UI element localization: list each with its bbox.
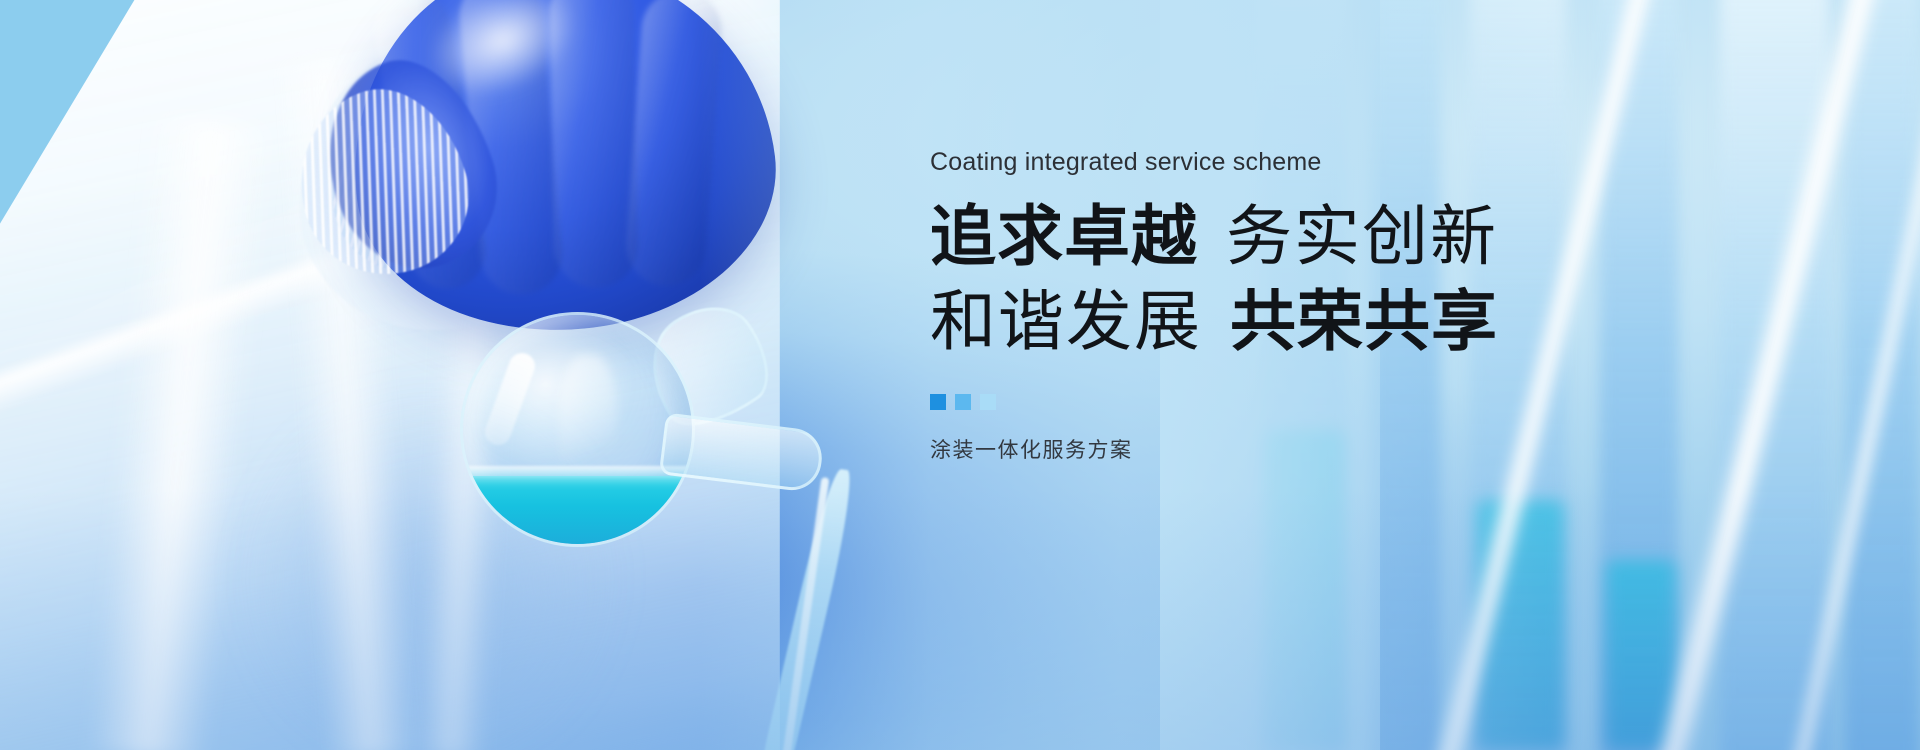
background-vignette bbox=[0, 490, 1920, 750]
flask-highlight bbox=[481, 349, 538, 448]
headline-segment-4: 共荣共享 bbox=[1230, 284, 1498, 358]
headline-line-1: 追求卓越务实创新 bbox=[930, 201, 1670, 272]
decorative-squares bbox=[930, 394, 1670, 410]
hero-banner: Coating integrated service scheme 追求卓越务实… bbox=[0, 0, 1920, 750]
decorative-square-1 bbox=[930, 394, 946, 410]
banner-headline: 追求卓越务实创新 和谐发展共荣共享 bbox=[930, 201, 1670, 358]
headline-line-2: 和谐发展共荣共享 bbox=[930, 286, 1670, 357]
banner-tagline: 涂装一体化服务方案 bbox=[930, 440, 1670, 461]
banner-text-block: Coating integrated service scheme 追求卓越务实… bbox=[930, 150, 1670, 461]
banner-eyebrow: Coating integrated service scheme bbox=[930, 150, 1670, 175]
decorative-square-3 bbox=[980, 394, 996, 410]
decorative-square-2 bbox=[955, 394, 971, 410]
headline-segment-1: 追求卓越 bbox=[930, 199, 1198, 273]
headline-segment-3: 和谐发展 bbox=[930, 284, 1202, 358]
headline-segment-2: 务实创新 bbox=[1226, 199, 1498, 273]
flask-highlight bbox=[559, 355, 617, 505]
